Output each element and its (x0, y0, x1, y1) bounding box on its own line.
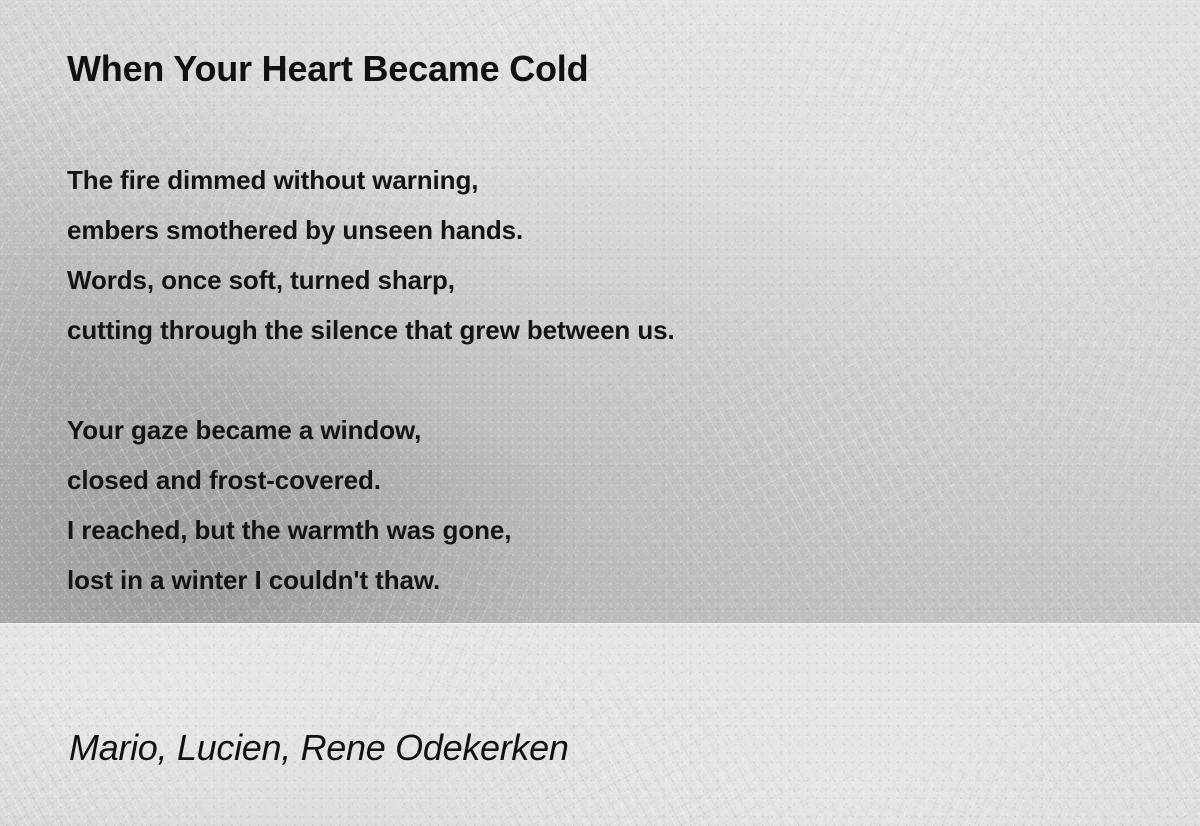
poem-author-byline: Mario, Lucien, Rene Odekerken (69, 727, 569, 769)
poem-body: The fire dimmed without warning, embers … (67, 155, 675, 605)
poem-content: When Your Heart Became Cold The fire dim… (0, 0, 1200, 826)
poem-line: Your gaze became a window, (67, 405, 675, 455)
poem-line: The fire dimmed without warning, (67, 155, 675, 205)
poem-line: closed and frost-covered. (67, 455, 675, 505)
poem-image-card: When Your Heart Became Cold The fire dim… (0, 0, 1200, 826)
poem-title: When Your Heart Became Cold (67, 48, 588, 90)
poem-stanza-break (67, 355, 675, 405)
poem-line: Words, once soft, turned sharp, (67, 255, 675, 305)
poem-line: lost in a winter I couldn't thaw. (67, 555, 675, 605)
poem-line: I reached, but the warmth was gone, (67, 505, 675, 555)
poem-line: cutting through the silence that grew be… (67, 305, 675, 355)
poem-line: embers smothered by unseen hands. (67, 205, 675, 255)
